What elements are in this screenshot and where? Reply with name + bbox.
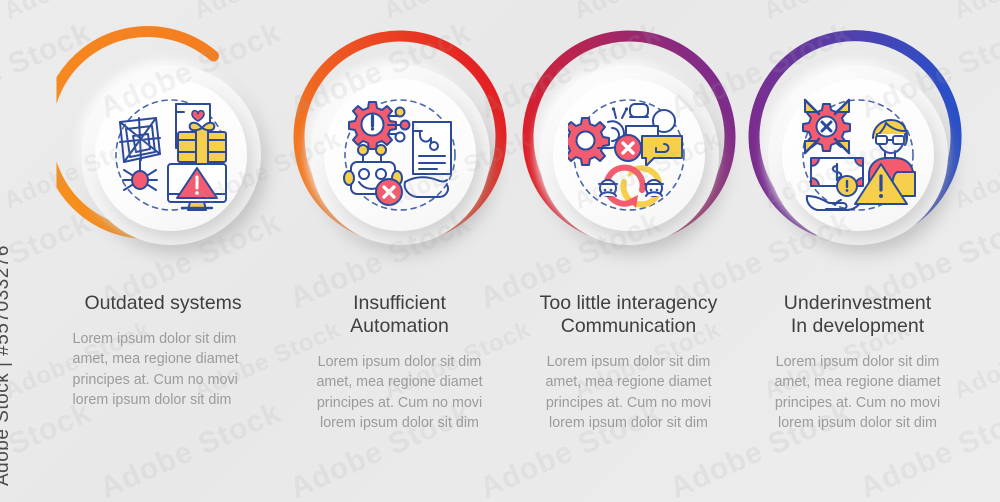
exchange-arrows-people-icon bbox=[599, 164, 663, 208]
step-item-insufficient-automation[interactable]: InsufficientAutomation Lorem ipsum dolor… bbox=[285, 24, 514, 480]
step-title-4-line2: In development bbox=[791, 315, 924, 337]
x-badge-icon bbox=[376, 179, 402, 205]
step-disc-2 bbox=[324, 79, 476, 231]
step-circle-4 bbox=[743, 24, 972, 286]
step-disc-3 bbox=[553, 79, 705, 231]
watermark-text: Adobe Stock bbox=[0, 0, 155, 26]
step-title-4: UnderinvestmentIn development bbox=[745, 292, 971, 338]
step-item-too-little-interagency-communication[interactable]: Too little interagencyCommunication Lore… bbox=[514, 24, 743, 480]
speech-bubble-x-icon bbox=[615, 126, 682, 166]
document-stethoscope-icon bbox=[413, 122, 451, 174]
step-body-4: Lorem ipsum dolor sit dim amet, mea regi… bbox=[760, 352, 956, 433]
watermark-text: Adobe Stock bbox=[190, 0, 345, 26]
step-body-1: Lorem ipsum dolor sit dim amet, mea regi… bbox=[73, 329, 269, 410]
step-circle-1 bbox=[56, 24, 285, 286]
step-disc-1 bbox=[95, 79, 247, 231]
step-title-3: Too little interagencyCommunication bbox=[516, 292, 742, 338]
watermark-text: Adobe Stock bbox=[380, 0, 535, 26]
hand-icon bbox=[806, 196, 860, 210]
steps-row: Outdated systems Lorem ipsum dolor sit d… bbox=[56, 24, 972, 480]
gear-money-developer-icon bbox=[797, 96, 919, 214]
step-circle-3 bbox=[514, 24, 743, 286]
step-title-2-line1: Insufficient bbox=[353, 292, 446, 314]
gear-robot-document-icon bbox=[339, 96, 461, 214]
gear-x-arrows-icon bbox=[803, 100, 850, 153]
step-title-2-line2: Automation bbox=[350, 315, 449, 337]
watermark-text: Adobe Stock bbox=[570, 0, 725, 26]
infographic-canvas: Adobe StockAdobe StockAdobe StockAdobe S… bbox=[0, 0, 1000, 502]
step-title-2: InsufficientAutomation bbox=[287, 292, 513, 338]
open-hand-icon bbox=[404, 177, 447, 197]
step-title-3-line1: Too little interagency bbox=[540, 292, 718, 314]
monitor-warning-icon bbox=[168, 164, 226, 210]
step-item-underinvestment-in-development[interactable]: UnderinvestmentIn development Lorem ipsu… bbox=[743, 24, 972, 480]
stock-credit-label: Adobe Stock | #557033276 bbox=[0, 245, 14, 486]
step-title-4-line1: Underinvestment bbox=[784, 292, 931, 314]
step-body-3: Lorem ipsum dolor sit dim amet, mea regi… bbox=[531, 352, 727, 433]
spiderweb-gift-warning-icon bbox=[110, 96, 232, 214]
banknote-dollar-icon bbox=[811, 158, 863, 196]
gear-snail-communication-icon bbox=[568, 96, 690, 214]
step-disc-4 bbox=[782, 79, 934, 231]
step-circle-2 bbox=[285, 24, 514, 286]
step-title-3-line2: Communication bbox=[561, 315, 696, 337]
watermark-text: Adobe Stock bbox=[950, 0, 1000, 26]
step-item-outdated-systems[interactable]: Outdated systems Lorem ipsum dolor sit d… bbox=[56, 24, 285, 480]
spider-icon bbox=[123, 160, 157, 190]
step-title-1: Outdated systems bbox=[57, 292, 285, 315]
step-body-2: Lorem ipsum dolor sit dim amet, mea regi… bbox=[302, 352, 498, 433]
watermark-text: Adobe Stock bbox=[760, 0, 915, 26]
